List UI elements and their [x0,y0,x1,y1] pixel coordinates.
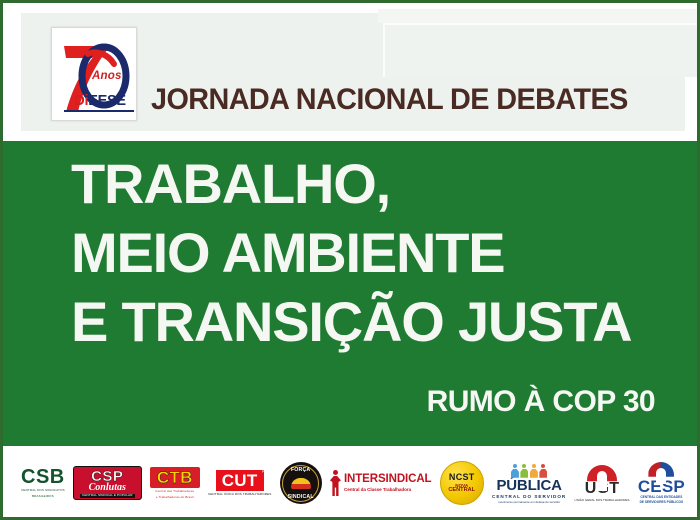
dieese-wordmark: DiEESE [66,94,134,109]
supporter-logo-ncst: NCST NOVA CENTRAL [440,455,484,511]
headline-line-1: TRABALHO, [71,157,671,212]
ncst-wordmark: NCST [449,473,475,482]
csp-script-wordmark: Conlutas [80,483,135,493]
ctb-wordmark: CTB [157,469,193,486]
supporter-logo-csb: CSB CENTRAL DOS SINDICATOS BRASILEIROS [21,455,65,511]
event-poster: Anos DiEESE JORNADA NACIONAL DE DEBATES … [0,0,700,520]
supporter-logo-csp-conlutas: CSP Conlutas CENTRAL SINDICAL E POPULAR [73,455,142,511]
intersindical-figure-icon [330,470,341,496]
intersindical-lockup: INTERSINDICAL Central da Classe Trabalha… [330,470,432,496]
ncst-emblem-icon: NCST NOVA CENTRAL [440,461,484,505]
publica-figure-3 [530,464,538,477]
csp-badge: CSP Conlutas CENTRAL SINDICAL E POPULAR [73,466,142,500]
intersindical-text-block: INTERSINDICAL Central da Classe Trabalha… [344,474,432,492]
publica-caption-line-1: CENTRAL DO SERVIDOR [492,494,566,499]
publica-caption-line-2: movimento permanente em defesa do servid… [498,500,560,504]
publica-figure-4 [539,464,547,477]
csb-caption-line-1: CENTRAL DOS SINDICATOS [21,489,65,493]
cesp-caption-line-2: DE SERVIDORES PÚBLICOS [640,501,684,505]
supporter-logo-cut: CUT BRASIL CENTRAL ÚNICA DOS TRABALHADOR… [208,455,271,511]
cut-wordmark: CUT [222,472,258,489]
ugt-caption-line-1: UNIÃO GERAL DOS TRABALHADORES [575,498,630,502]
ctb-caption-line-2: e Trabalhadoras do Brasil [156,496,194,500]
forca-name-top: FORÇA [280,467,322,473]
header-background-panel [383,23,700,77]
dieese-wordmark-blue: EESE [88,93,126,109]
ctb-caption-line-1: Central dos Trabalhadores [155,490,194,494]
ugt-arc-icon [587,465,617,482]
dieese-wordmark-red: Di [74,93,88,109]
headline: TRABALHO, MEIO AMBIENTE E TRANSIÇÃO JUST… [71,157,671,350]
supporter-logo-ctb: CTB Central dos Trabalhadores e Trabalha… [150,455,200,511]
intersindical-wordmark: INTERSINDICAL [344,474,432,486]
forca-name-bottom: SINDICAL [280,494,322,500]
supporter-logo-forca-sindical: FORÇA SINDICAL [280,455,322,511]
cut-badge: CUT BRASIL [216,470,264,491]
supporter-logo-cesp: CESP CENTRAL DAS ENTIDADES DE SERVIDORES… [638,455,685,511]
ctb-badge: CTB [150,467,200,488]
figure-head [333,470,338,475]
supporter-logo-ugt: UGT UNIÃO GERAL DOS TRABALHADORES [575,455,630,511]
supporter-logo-publica: PÚBLICA CENTRAL DO SERVIDOR movimento pe… [492,455,566,511]
figure-body [330,476,341,496]
cesp-caption-line-1: CENTRAL DAS ENTIDADES [640,496,682,500]
ncst-caption-line-2: CENTRAL [448,488,475,494]
headline-band: TRABALHO, MEIO AMBIENTE E TRANSIÇÃO JUST… [3,141,700,449]
publica-figure-1 [511,464,519,477]
dieese-logo: Anos DiEESE [51,27,137,121]
headline-subline: RUMO À COP 30 [427,385,655,419]
csb-caption-line-2: BRASILEIROS [32,495,54,499]
publica-wordmark: PÚBLICA [497,478,562,493]
supporter-logo-strip: CSB CENTRAL DOS SINDICATOS BRASILEIROS C… [3,446,700,520]
dieese-underline [64,110,134,112]
cut-caption-line-1: CENTRAL ÚNICA DOS TRABALHADORES [208,493,271,497]
publica-people-icon [511,462,548,477]
csp-caption-line-1: CENTRAL SINDICAL E POPULAR [80,494,135,498]
page-title: JORNADA NACIONAL DE DEBATES [151,83,628,117]
poster-header: Anos DiEESE JORNADA NACIONAL DE DEBATES [3,3,700,141]
csb-wordmark: CSB [21,467,65,487]
publica-figure-2 [520,464,528,477]
supporter-logo-intersindical: INTERSINDICAL Central da Classe Trabalha… [330,455,432,511]
dieese-anos-label: Anos [92,70,122,82]
header-background-strip [378,9,698,23]
cut-side-label: BRASIL [261,461,265,473]
cesp-arc-icon [648,462,674,477]
headline-line-3: E TRANSIÇÃO JUSTA [71,295,671,350]
intersindical-caption-line-1: Central da Classe Trabalhadora [344,487,432,492]
headline-line-2: MEIO AMBIENTE [71,226,671,281]
forca-sindical-emblem-icon: FORÇA SINDICAL [280,462,322,504]
